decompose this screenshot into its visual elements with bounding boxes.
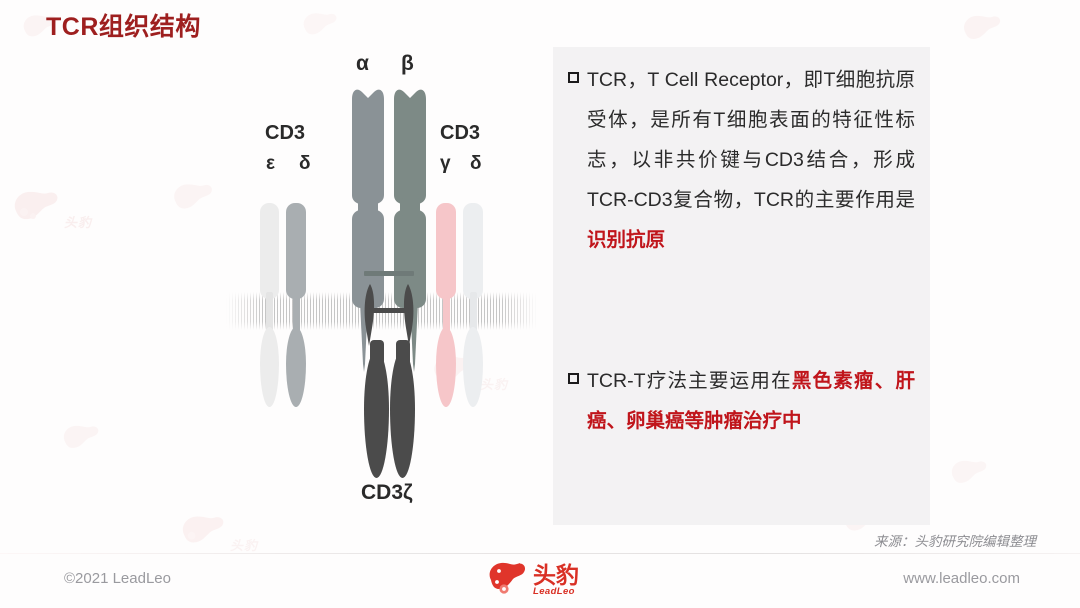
- copyright-text: ©2021 LeadLeo: [64, 570, 171, 587]
- leopard-icon: [487, 560, 527, 601]
- bullet-text: TCR，T Cell Receptor，即T细胞抗原受体，是所有T细胞表面的特征…: [587, 60, 915, 260]
- logo-en-text: LeadLeo: [533, 587, 579, 597]
- watermark-logo: [178, 510, 228, 548]
- bullet-square-icon: [568, 373, 579, 384]
- website-url: www.leadleo.com: [903, 570, 1020, 587]
- label-cd3-left: CD3: [265, 122, 305, 145]
- watermark-logo: [300, 8, 340, 39]
- watermark-logo: [10, 185, 62, 225]
- source-note: 来源：头豹研究院编辑整理: [874, 530, 1036, 550]
- watermark-logo: [960, 10, 1004, 44]
- label-cd3-epsilon: ε: [266, 153, 275, 175]
- bullet-text: TCR-T疗法主要运用在黑色素瘤、肝癌、卵巢癌等肿瘤治疗中: [587, 361, 915, 441]
- leadleo-logo: 头豹 LeadLeo: [487, 560, 579, 601]
- label-cd3-delta-right: δ: [470, 153, 482, 175]
- label-beta-chain: β: [401, 52, 414, 76]
- description-panel: TCR，T Cell Receptor，即T细胞抗原受体，是所有T细胞表面的特征…: [553, 47, 930, 525]
- watermark-logo: [60, 420, 102, 453]
- watermark-text: 头豹: [64, 212, 92, 231]
- bullet-square-icon: [568, 72, 579, 83]
- watermark-logo: [948, 455, 990, 488]
- logo-cn-text: 头豹: [533, 564, 579, 587]
- label-cd3-zeta: CD3ζ: [361, 481, 413, 505]
- bullet-text-plain: TCR-T疗法主要运用在: [587, 370, 792, 392]
- bullet-item: TCR-T疗法主要运用在黑色素瘤、肝癌、卵巢癌等肿瘤治疗中: [568, 361, 915, 441]
- tcr-structure-diagram: α β CD3 ε δ CD3 γ δ: [218, 40, 548, 510]
- watermark-logo: [170, 178, 216, 214]
- bullet-text-highlight: 识别抗原: [587, 229, 665, 251]
- disulfide-bond-lower: [369, 308, 409, 313]
- label-cd3-delta-left: δ: [299, 153, 311, 175]
- bullet-text-plain: TCR，T Cell Receptor，即T细胞抗原受体，是所有T细胞表面的特征…: [587, 69, 915, 211]
- label-cd3-gamma: γ: [440, 153, 451, 175]
- watermark-text: 头豹: [230, 535, 258, 554]
- page-title: TCR组织结构: [46, 7, 201, 43]
- bullet-item: TCR，T Cell Receptor，即T细胞抗原受体，是所有T细胞表面的特征…: [568, 60, 915, 260]
- label-alpha-chain: α: [356, 52, 369, 76]
- label-cd3-right: CD3: [440, 122, 480, 145]
- disulfide-bond-upper: [364, 271, 414, 276]
- footer-divider: [0, 553, 1080, 554]
- slide-canvas: 头豹 头豹 头豹 TCR组织结构 α β CD3 ε δ: [0, 0, 1080, 608]
